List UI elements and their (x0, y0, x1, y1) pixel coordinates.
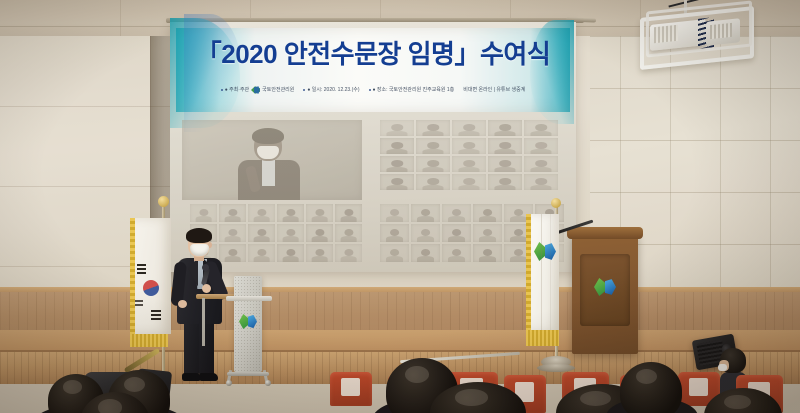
vc-tile-shoulders (340, 256, 357, 262)
flag-fold (541, 214, 542, 332)
vc-tile-shoulders (494, 167, 515, 172)
vc-tile-shoulders (458, 131, 479, 136)
vc-participant-tile (452, 156, 486, 172)
vc-participant-tile (488, 174, 522, 190)
vc-speaker-shirt (262, 160, 275, 186)
vc-tile-shoulders (530, 167, 551, 172)
hair-highlight (98, 399, 122, 413)
org-logo-icon (534, 242, 556, 261)
org-logo-blue-shape (605, 279, 616, 295)
vc-tile-shoulders (530, 131, 551, 136)
vc-participant-tile (452, 120, 486, 136)
flag-cloth (130, 218, 171, 334)
hair-highlight (63, 380, 82, 394)
vc-participant-tile (524, 156, 558, 172)
vc-tile-shoulders (282, 236, 299, 242)
vc-tile-shoulders (417, 216, 435, 222)
flag-cloth (529, 214, 559, 332)
vc-tile-shoulders (494, 149, 515, 154)
vc-participant-tile (306, 204, 333, 222)
presenter-hand-right (202, 284, 211, 293)
vc-participant-tile (442, 204, 471, 222)
trigram-mark (135, 304, 143, 306)
trigram-mark (151, 318, 161, 320)
flag-finial-icon (158, 196, 169, 207)
org-logo-icon (251, 86, 260, 94)
vc-participant-tile (306, 224, 333, 242)
vc-participant-tile (488, 156, 522, 172)
banner-subtitle-row: ● 주최·주관 국토안전관리원 ● 일시: 2020. 12.23.(수) ● … (176, 86, 570, 94)
vc-participant-tile (416, 120, 450, 136)
vc-tile-shoulders (282, 256, 299, 262)
vc-tile-shoulders (311, 236, 328, 242)
bullet-icon (303, 89, 305, 91)
vc-tile-shoulders (386, 131, 407, 136)
hair-highlight (580, 391, 611, 406)
vc-participant-tile (380, 244, 409, 262)
vc-participant-tile (524, 138, 558, 154)
org-logo-icon (239, 314, 257, 329)
vc-participant-tile (380, 156, 414, 172)
vc-participant-tile (248, 244, 275, 262)
vc-tile-shoulders (417, 236, 435, 242)
panel-gridline (590, 192, 800, 193)
audience-head (620, 362, 682, 413)
vc-tile-shoulders (448, 236, 466, 242)
vc-participant-tile (380, 138, 414, 154)
vc-participant-tile (335, 224, 362, 242)
org-logo-green-shape (239, 314, 248, 329)
vc-participant-tile (380, 174, 414, 190)
vc-tile-shoulders (422, 149, 443, 154)
vc-participant-tile (411, 244, 440, 262)
vc-tile-shoulders (282, 216, 299, 222)
vc-participant-tile (190, 204, 217, 222)
panel-gridline (770, 36, 771, 292)
vc-tile-shoulders (253, 216, 270, 222)
vc-participant-tile (488, 138, 522, 154)
vc-tile-shoulders (422, 185, 443, 190)
vc-tile-shoulders (386, 216, 404, 222)
vc-participant-tile (411, 224, 440, 242)
banner-subtitle-place: ● 장소: 국토안전관리원 진주교육원 1층 (369, 87, 455, 94)
hair-highlight (405, 366, 429, 383)
presenter-hair (186, 228, 212, 243)
vc-participant-tile (306, 244, 333, 262)
panel-gridline (590, 88, 800, 89)
banner-swoosh-right (530, 20, 574, 124)
trigram-mark (151, 314, 161, 316)
vc-participant-tile (335, 204, 362, 222)
banner-stream-text: 비대면 온라인 | 유튜브 생중계 (463, 87, 525, 94)
vc-tile-shoulders (458, 167, 479, 172)
vc-participant-tile (473, 244, 502, 262)
vc-tile-shoulders (253, 256, 270, 262)
vc-tile-shoulders (510, 236, 528, 242)
org-logo-green-shape (594, 278, 605, 296)
vc-tile-shoulders (195, 216, 212, 222)
vc-participant-tile (524, 174, 558, 190)
vc-participant-tile (277, 204, 304, 222)
banner-subtitle-host: ● 주최·주관 국토안전관리원 (221, 86, 295, 94)
taeguk-symbol-icon (143, 280, 159, 296)
vc-tile-shoulders (479, 256, 497, 262)
vc-tile-shoulders (386, 167, 407, 172)
bullet-icon (221, 89, 223, 91)
panel-gridline (720, 36, 721, 292)
vc-tile-shoulders (386, 236, 404, 242)
vc-participant-tile (219, 204, 246, 222)
vc-tile-shoulders (448, 256, 466, 262)
vc-participant-tile (380, 120, 414, 136)
org-logo-green-shape (534, 242, 545, 261)
podium-shelf (226, 296, 272, 301)
panel-gridline (590, 140, 800, 141)
vc-tile-shoulders (494, 131, 515, 136)
vc-tile-shoulders (386, 185, 407, 190)
banner-title: 「2020 안전수문장 임명」수여식 (176, 39, 570, 69)
hair-highlight (724, 395, 751, 410)
vc-tile-shoulders (479, 216, 497, 222)
vc-active-speaker-tile (182, 120, 362, 200)
org-logo-blue-shape (248, 315, 257, 328)
org-logo-icon (594, 278, 616, 296)
vc-participant-tile (416, 156, 450, 172)
vc-tile-shoulders (386, 149, 407, 154)
event-banner: 「2020 안전수문장 임명」수여식 ● 주최·주관 국토안전관리원 ● 일시:… (176, 28, 570, 112)
vc-participant-tile (277, 244, 304, 262)
vc-participant-tile (380, 224, 409, 242)
vc-tile-shoulders (340, 236, 357, 242)
bullet-icon (369, 89, 371, 91)
vc-tile-shoulders (224, 216, 241, 222)
flag-fold (550, 214, 551, 332)
hair-highlight (124, 377, 145, 392)
panel-gridline (670, 36, 671, 292)
vc-tile-shoulders (510, 216, 528, 222)
projection-screen: 「2020 안전수문장 임명」수여식 ● 주최·주관 국토안전관리원 ● 일시:… (170, 22, 576, 272)
vc-tile-shoulders (253, 236, 270, 242)
hair-highlight (455, 389, 488, 405)
banner-date-text: ● 일시: 2020. 12.23.(수) (307, 87, 359, 94)
trigram-mark (137, 272, 146, 274)
vc-participant-tile (416, 174, 450, 190)
vc-speaker-hair (252, 128, 284, 144)
vc-grid-top-right (380, 120, 558, 190)
trigram-mark (151, 310, 161, 312)
foreground-audience (0, 330, 800, 413)
microphone-head-icon (202, 264, 209, 271)
vc-participant-tile (248, 204, 275, 222)
ceiling-projector (640, 4, 752, 64)
hair-highlight (636, 369, 657, 384)
vc-tile-shoulders (340, 216, 357, 222)
vc-tile-shoulders (530, 149, 551, 154)
vc-participant-tile (248, 224, 275, 242)
vc-tile-shoulders (311, 216, 328, 222)
vc-tile-shoulders (458, 149, 479, 154)
trigram-mark (137, 268, 146, 270)
vc-participant-tile (442, 244, 471, 262)
vc-participant-tile (473, 224, 502, 242)
vc-tile-shoulders (479, 236, 497, 242)
vc-tile-shoulders (417, 256, 435, 262)
vc-participant-tile (277, 224, 304, 242)
vc-participant-tile (473, 204, 502, 222)
flag-finial-icon (551, 198, 561, 208)
projector-vent-right (710, 23, 732, 39)
vc-tile-shoulders (530, 185, 551, 190)
vc-participant-tile (452, 138, 486, 154)
banner-subtitle-stream: 비대면 온라인 | 유튜브 생중계 (463, 87, 525, 94)
trigram-mark (135, 300, 143, 302)
vc-tile-shoulders (386, 256, 404, 262)
vc-tile-shoulders (494, 185, 515, 190)
banner-place-text: ● 장소: 국토안전관리원 진주교육원 1층 (373, 87, 455, 94)
vc-tile-shoulders (422, 167, 443, 172)
vc-participant-tile (524, 120, 558, 136)
vc-tile-shoulders (448, 216, 466, 222)
vc-participant-tile (442, 224, 471, 242)
vc-participant-tile (452, 174, 486, 190)
flag-fringe-left (526, 214, 531, 334)
vc-participant-tile (416, 138, 450, 154)
vc-tile-shoulders (422, 131, 443, 136)
audience-head (704, 388, 782, 413)
banner-host-label: ● 주최·주관 (225, 87, 249, 94)
presenter-hand-left (178, 300, 187, 308)
trigram-mark (137, 264, 146, 266)
banner-swoosh-left-2 (184, 14, 242, 132)
vc-participant-tile (380, 204, 409, 222)
vc-tile-shoulders (458, 185, 479, 190)
vc-participant-tile (411, 204, 440, 222)
vc-participant-tile (335, 244, 362, 262)
video-conference-projection (182, 120, 564, 268)
vc-tile-shoulders (510, 256, 528, 262)
banner-subtitle-date: ● 일시: 2020. 12.23.(수) (303, 87, 359, 94)
flag-fringe-left (130, 218, 135, 334)
projector-vent-left (654, 25, 678, 44)
banner-host-value: 국토안전관리원 (262, 87, 294, 94)
vc-tile-shoulders (311, 256, 328, 262)
vc-participant-tile (488, 120, 522, 136)
auditorium-ceremony-photo: 「2020 안전수문장 임명」수여식 ● 주최·주관 국토안전관리원 ● 일시:… (0, 0, 800, 413)
